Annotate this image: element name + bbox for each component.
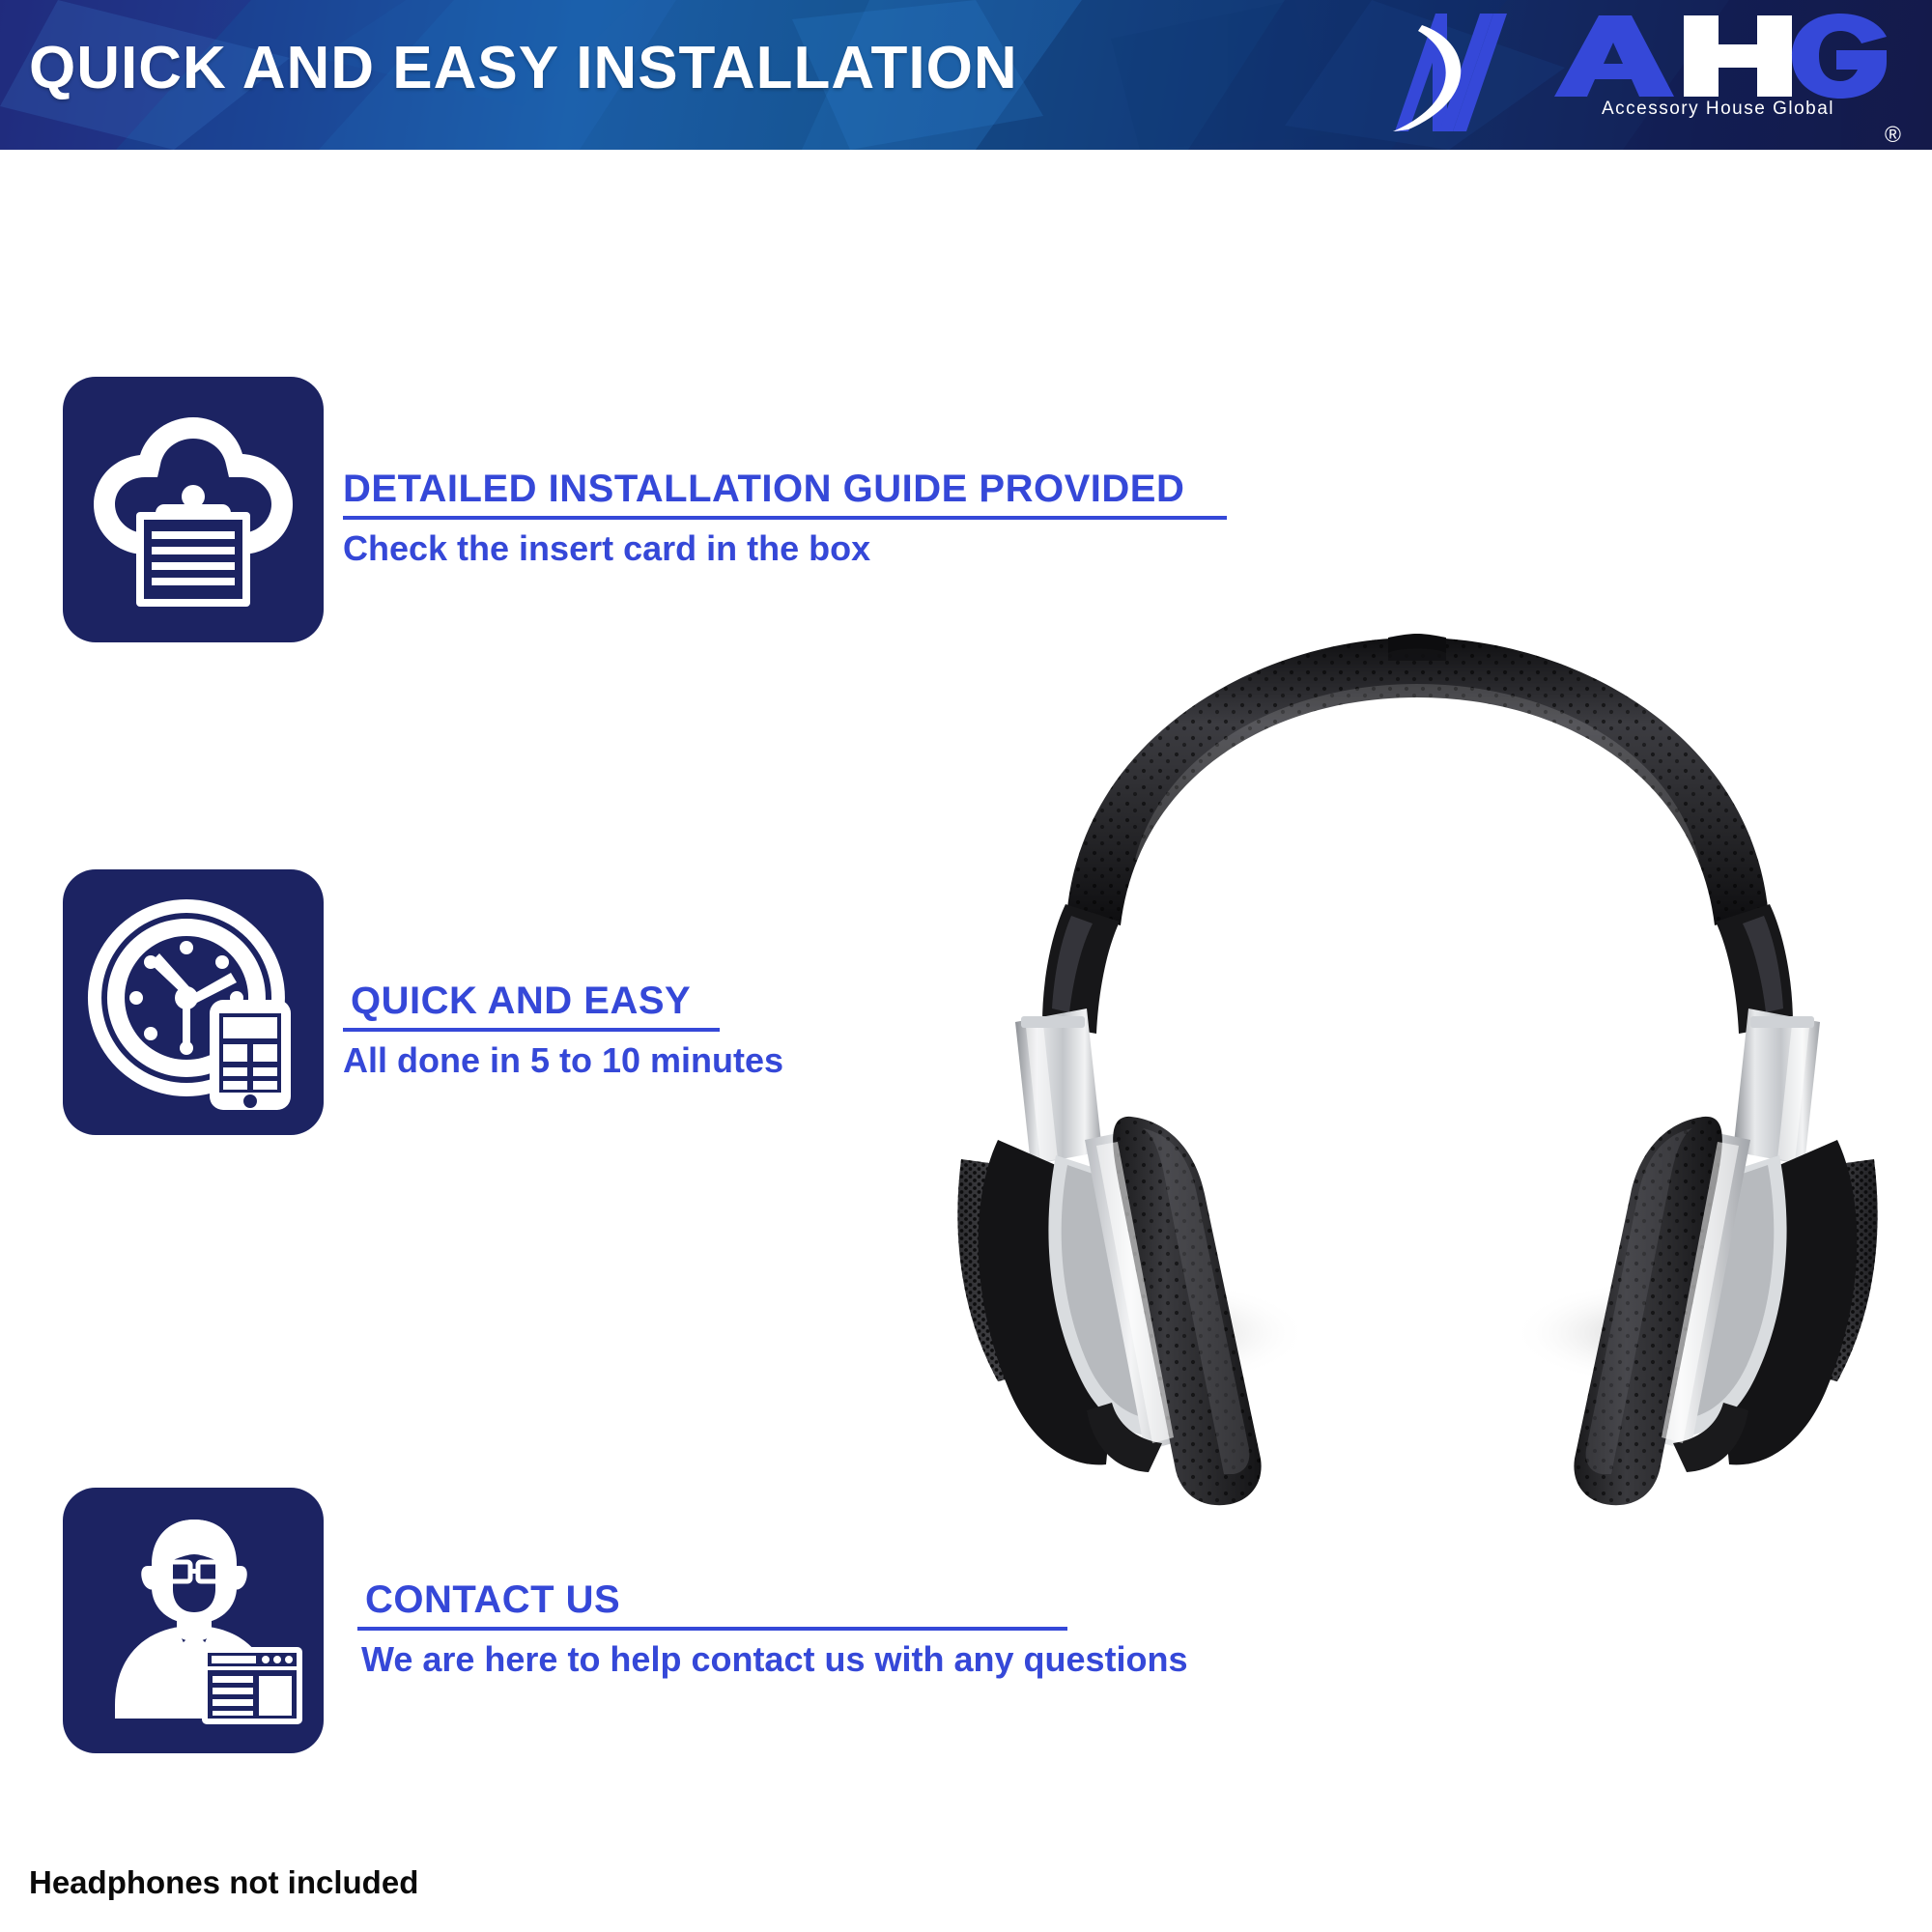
feature-text-block: DETAILED INSTALLATION GUIDE PROVIDED Che… [343,469,1227,568]
ahg-monogram-mark-icon [1379,10,1529,135]
ahg-wordmark-icon [1539,14,1896,99]
feature-divider [357,1627,1067,1631]
clock-smartphone-icon [82,894,304,1111]
disclaimer-text: Headphones not included [29,1864,418,1901]
page-header: QUICK AND EASY INSTALLATION Accessory Ho… [0,0,1932,150]
feature-icon-tile [63,869,324,1135]
logo-tagline: Accessory House Global [1542,99,1894,120]
feature-icon-tile [63,1488,324,1753]
feature-subtitle: Check the insert card in the box [343,529,1227,568]
feature-title: DETAILED INSTALLATION GUIDE PROVIDED [343,469,1227,510]
feature-text-block: QUICK AND EASY All done in 5 to 10 minut… [343,980,720,1080]
headphones-illustration-icon [942,618,1893,1599]
cloud-clipboard-icon [82,404,304,616]
feature-divider [343,516,1227,520]
product-image-headphones [942,618,1893,1599]
feature-subtitle: We are here to help contact us with any … [357,1640,1067,1679]
feature-icon-tile [63,377,324,642]
support-agent-browser-icon [80,1512,307,1729]
brand-logo: Accessory House Global ® [1370,6,1911,146]
feature-subtitle: All done in 5 to 10 minutes [343,1041,720,1080]
infographic-page: QUICK AND EASY INSTALLATION Accessory Ho… [0,0,1932,1932]
feature-title: QUICK AND EASY [343,980,720,1022]
page-title: QUICK AND EASY INSTALLATION [29,39,1018,99]
feature-divider [343,1028,720,1032]
registered-trademark-icon: ® [1885,124,1901,146]
